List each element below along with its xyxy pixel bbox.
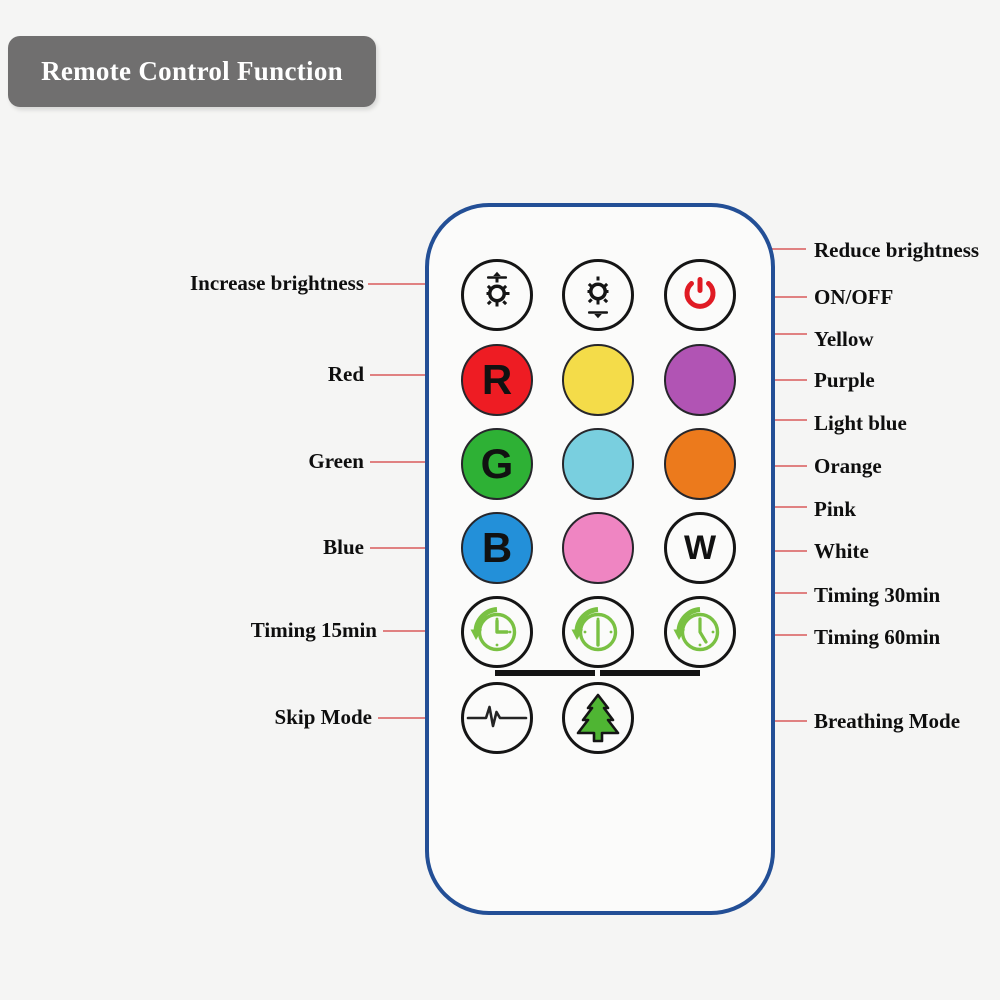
- button-connector-right: [600, 670, 700, 676]
- callout-label-pink: Pink: [814, 499, 856, 520]
- callout-label-purple: Purple: [814, 370, 875, 391]
- callout-label-white: White: [814, 541, 869, 562]
- callout-label-skip-mode: Skip Mode: [0, 707, 372, 728]
- power-icon: [679, 274, 721, 316]
- callout-label-timing-30min: Timing 30min: [814, 585, 940, 606]
- callout-label-increase-brightness: Increase brightness: [0, 273, 364, 294]
- button-timing-30min[interactable]: [562, 596, 634, 668]
- button-white[interactable]: W: [664, 512, 736, 584]
- button-increase-brightness[interactable]: [461, 259, 533, 331]
- button-timing-15min[interactable]: [461, 596, 533, 668]
- button-yellow[interactable]: [562, 344, 634, 416]
- timer-clock-icon: [673, 605, 727, 659]
- button-breathing-mode[interactable]: [562, 682, 634, 754]
- brightness-up-icon: [473, 271, 521, 319]
- button-letter-w: W: [684, 531, 716, 565]
- tree-icon: [575, 693, 621, 743]
- brightness-down-icon: [574, 271, 622, 319]
- button-green[interactable]: G: [461, 428, 533, 500]
- button-light-blue[interactable]: [562, 428, 634, 500]
- button-on-off[interactable]: [664, 259, 736, 331]
- callout-label-yellow: Yellow: [814, 329, 874, 350]
- button-timing-60min[interactable]: [664, 596, 736, 668]
- callout-label-blue: Blue: [0, 537, 364, 558]
- callout-label-reduce-brightness: Reduce brightness: [814, 240, 979, 261]
- button-red[interactable]: R: [461, 344, 533, 416]
- page-title: Remote Control Function: [41, 56, 343, 87]
- button-letter-g: G: [481, 443, 514, 485]
- button-reduce-brightness[interactable]: [562, 259, 634, 331]
- button-blue[interactable]: B: [461, 512, 533, 584]
- title-badge: Remote Control Function: [8, 36, 376, 107]
- button-skip-mode[interactable]: [461, 682, 533, 754]
- callout-label-orange: Orange: [814, 456, 882, 477]
- timer-clock-icon: [470, 605, 524, 659]
- button-connector-left: [495, 670, 595, 676]
- callout-label-light-blue: Light blue: [814, 413, 907, 434]
- button-orange[interactable]: [664, 428, 736, 500]
- button-letter-r: R: [482, 359, 512, 401]
- button-letter-b: B: [482, 527, 512, 569]
- callout-label-timing-60min: Timing 60min: [814, 627, 940, 648]
- callout-label-red: Red: [0, 364, 364, 385]
- diagram-canvas: Remote Control Function: [0, 0, 1000, 1000]
- pulse-wave-icon: [467, 700, 527, 736]
- timer-clock-icon: [571, 605, 625, 659]
- button-pink[interactable]: [562, 512, 634, 584]
- callout-label-breathing-mode: Breathing Mode: [814, 711, 960, 732]
- callout-label-on-off: ON/OFF: [814, 287, 893, 308]
- callout-label-timing-15min: Timing 15min: [0, 620, 377, 641]
- button-purple[interactable]: [664, 344, 736, 416]
- callout-label-green: Green: [0, 451, 364, 472]
